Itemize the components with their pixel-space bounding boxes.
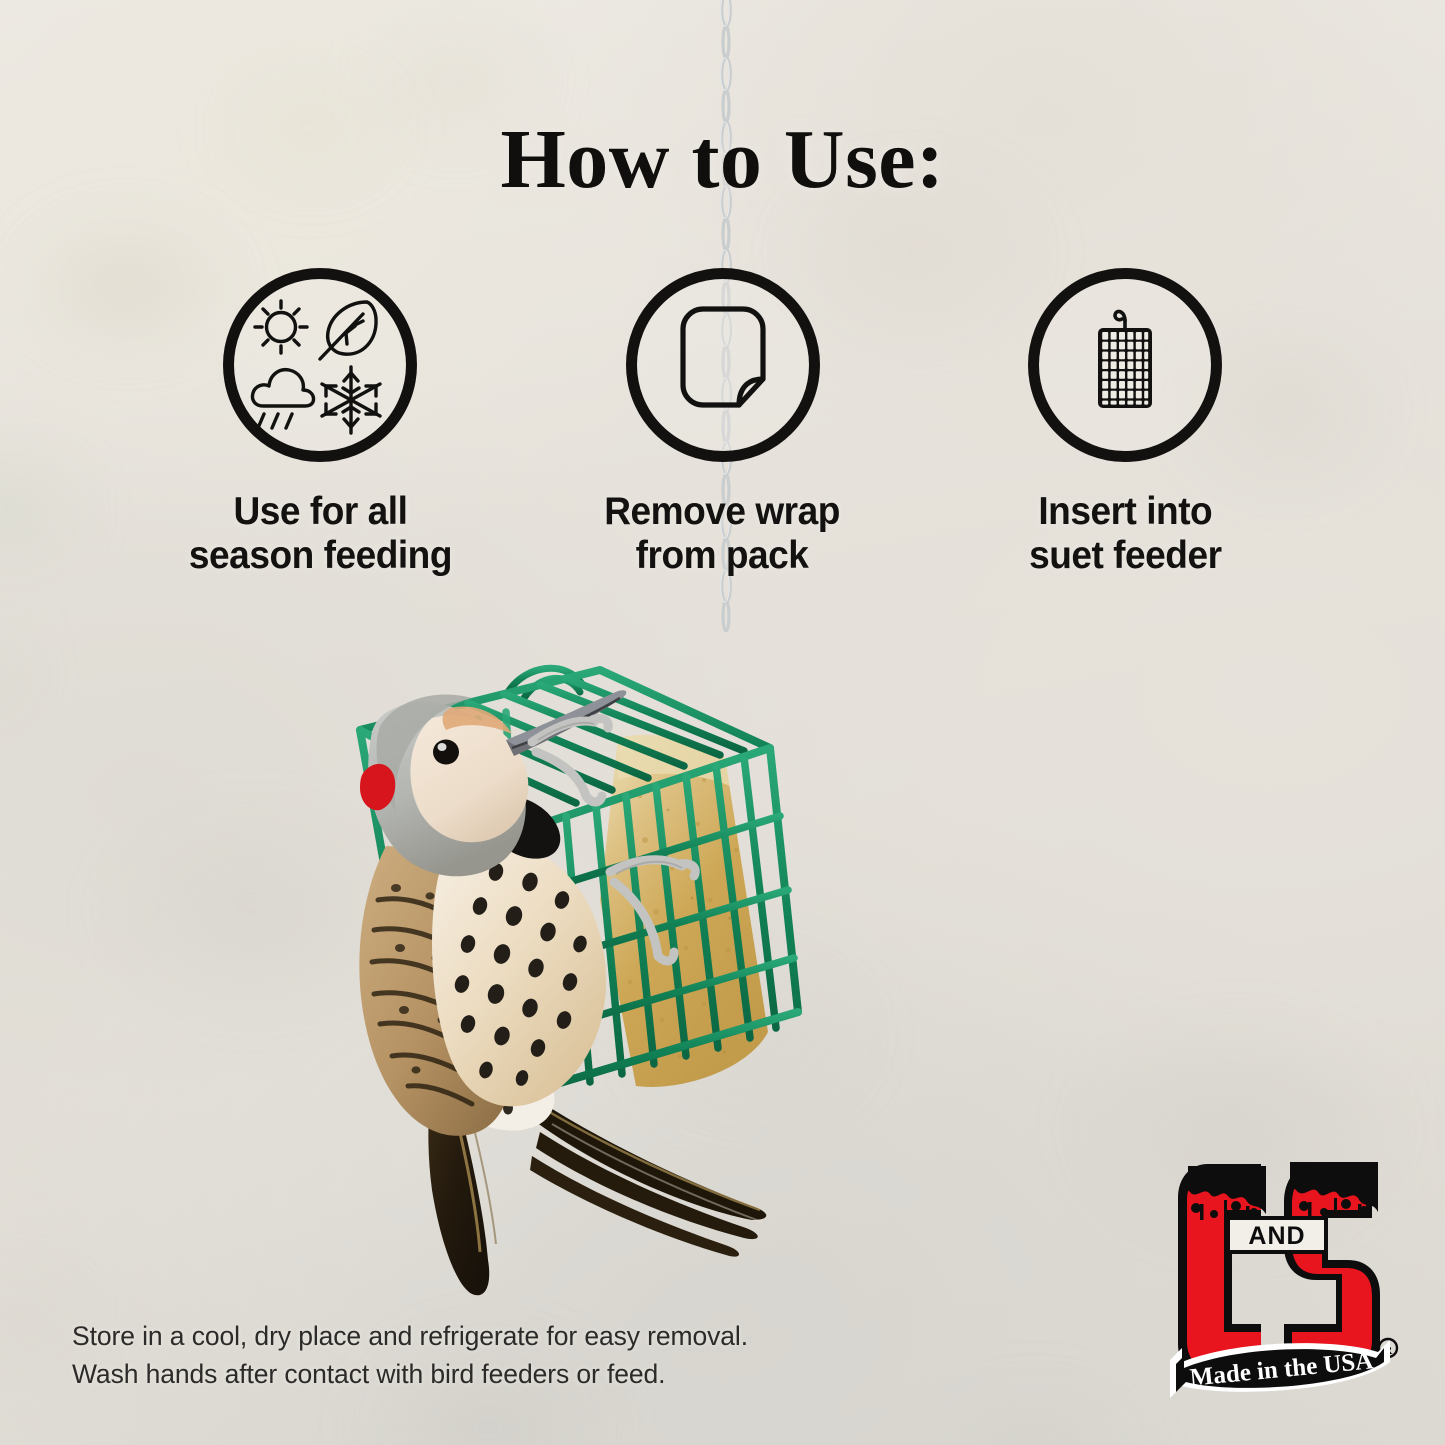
step-caption-3: Insert into suet feeder [1029, 490, 1221, 577]
rain-cloud-icon [252, 370, 313, 428]
step-caption-3-line1: Insert into [1029, 490, 1221, 534]
step-remove-wrap: Remove wrap from pack [553, 268, 893, 577]
seasons-icon [245, 290, 395, 440]
suet-feeder-cage-icon [1055, 295, 1195, 435]
step-caption-1-line1: Use for all [188, 490, 451, 534]
product-info-panel: How to Use: [0, 0, 1445, 1445]
step-caption-2-line1: Remove wrap [605, 490, 841, 534]
storage-instructions-line1: Store in a cool, dry place and refrigera… [72, 1318, 748, 1356]
logo-and-bar: AND [1226, 1216, 1328, 1254]
step-caption-1-line2: season feeding [188, 534, 451, 578]
peeling-wrap-icon [653, 295, 793, 435]
sun-icon [255, 301, 307, 353]
logo-and-text: AND [1248, 1222, 1305, 1250]
snowflake-icon [322, 367, 380, 433]
step-caption-1: Use for all season feeding [188, 490, 451, 577]
bird-eye [433, 740, 459, 765]
product-photo-bird-on-suet-feeder [300, 600, 1020, 1300]
storage-instructions: Store in a cool, dry place and refrigera… [72, 1318, 748, 1393]
page-title: How to Use: [0, 118, 1445, 202]
step-all-season-feeding: Use for all season feeding [150, 268, 490, 577]
step-insert-into-suet-feeder: Insert into suet feeder [955, 268, 1295, 577]
step-caption-3-line2: suet feeder [1029, 534, 1221, 578]
storage-instructions-line2: Wash hands after contact with bird feede… [72, 1356, 748, 1394]
step-caption-2: Remove wrap from pack [605, 490, 841, 577]
step-icon-circle-1 [223, 268, 417, 462]
leaf-icon [320, 302, 376, 359]
brand-logo-c-and-s: AND R Made in the USA [1166, 1148, 1402, 1398]
logo-letter-c [1176, 1162, 1266, 1378]
step-icon-circle-3 [1028, 268, 1222, 462]
how-to-use-steps: Use for all season feeding Remove wrap f… [150, 268, 1295, 577]
step-icon-circle-2 [626, 268, 820, 462]
step-caption-2-line2: from pack [605, 534, 841, 578]
